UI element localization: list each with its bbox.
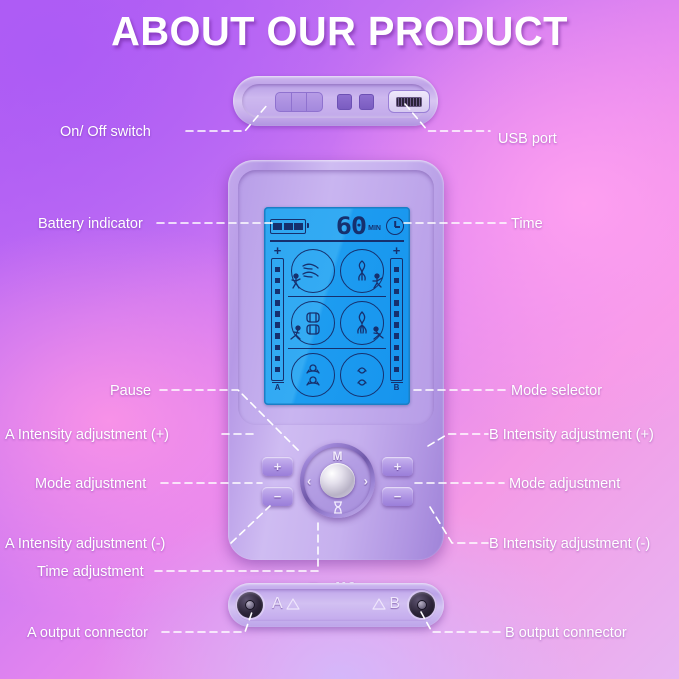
a-channel-letter: A bbox=[272, 595, 283, 613]
mode-acupuncture[interactable] bbox=[337, 245, 386, 297]
lcd-divider bbox=[270, 240, 404, 242]
dpad-right-arrow-icon[interactable]: › bbox=[364, 473, 368, 488]
intensity-bar-b: + B bbox=[388, 245, 405, 393]
device-top-strip bbox=[233, 76, 438, 126]
infographic-canvas: ABOUT OUR PRODUCT Belifu 60 MIN bbox=[0, 0, 679, 679]
a-intensity-plus-button[interactable]: + bbox=[262, 457, 293, 476]
time-unit: MIN bbox=[368, 224, 381, 234]
annotation-mode-adjustment-right: Mode adjustment bbox=[509, 476, 620, 492]
b-output-jack[interactable] bbox=[409, 592, 435, 618]
annotation-usb-port: USB port bbox=[498, 131, 557, 147]
dpad-center-button[interactable] bbox=[320, 463, 355, 498]
mode-grid bbox=[288, 245, 386, 401]
annotation-time: Time bbox=[511, 216, 543, 232]
dpad-left-arrow-icon[interactable]: ‹ bbox=[307, 473, 311, 488]
intensity-bar-a: + A bbox=[269, 245, 286, 393]
intensity-a-plus-sign: + bbox=[274, 245, 282, 256]
annotation-pause: Pause bbox=[110, 383, 151, 399]
time-display: 60 MIN bbox=[339, 216, 404, 236]
figure-icon bbox=[370, 273, 386, 295]
mode-scraping[interactable] bbox=[337, 297, 386, 349]
device-bottom-strip-inner bbox=[235, 589, 437, 621]
b-intensity-plus-button[interactable]: + bbox=[382, 457, 413, 476]
annotation-b-intensity-plus: B Intensity adjustment (+) bbox=[489, 427, 654, 443]
mini-button-1[interactable] bbox=[337, 94, 352, 110]
b-jack-pin bbox=[417, 600, 427, 610]
usb-port-slot bbox=[396, 97, 422, 107]
figure-icon bbox=[288, 325, 304, 347]
b-channel-letter: B bbox=[389, 595, 400, 613]
annotation-on-off-switch: On/ Off switch bbox=[60, 124, 151, 140]
a-jack-pin bbox=[245, 600, 255, 610]
battery-indicator bbox=[270, 219, 306, 234]
mode-cupping[interactable] bbox=[288, 297, 337, 349]
hourglass-icon[interactable] bbox=[331, 501, 344, 514]
b-intensity-minus-button[interactable]: − bbox=[382, 487, 413, 506]
annotation-battery-indicator: Battery indicator bbox=[38, 216, 143, 232]
intensity-b-plus-sign: + bbox=[393, 245, 401, 256]
kneading-icon bbox=[291, 353, 335, 397]
mode-massage[interactable] bbox=[288, 245, 337, 297]
a-channel-marking: A bbox=[272, 595, 300, 613]
lcd-status-row: 60 MIN bbox=[270, 213, 404, 239]
annotation-a-output-connector: A output connector bbox=[27, 625, 148, 641]
usb-port[interactable] bbox=[388, 90, 430, 113]
page-title: ABOUT OUR PRODUCT bbox=[10, 8, 669, 55]
intensity-a-column bbox=[271, 258, 284, 381]
mode-selector[interactable]: M ‹ › bbox=[300, 443, 375, 518]
warning-triangle-icon bbox=[286, 597, 300, 611]
annotation-time-adjustment: Time adjustment bbox=[37, 564, 144, 580]
annotation-a-intensity-plus: A Intensity adjustment (+) bbox=[5, 427, 169, 443]
annotation-b-output-connector: B output connector bbox=[505, 625, 627, 641]
b-channel-marking: B bbox=[372, 595, 400, 613]
annotation-mode-adjustment-left: Mode adjustment bbox=[35, 476, 146, 492]
annotation-mode-selector: Mode selector bbox=[511, 383, 602, 399]
figure-icon bbox=[370, 325, 386, 347]
dpad-mode-label[interactable]: M bbox=[333, 449, 343, 463]
mini-button-2[interactable] bbox=[359, 94, 374, 110]
figure-icon bbox=[288, 273, 304, 295]
annotation-a-intensity-minus: A Intensity adjustment (-) bbox=[5, 536, 165, 552]
lcd-screen: 60 MIN + A + B bbox=[264, 207, 410, 405]
a-intensity-minus-button[interactable]: − bbox=[262, 487, 293, 506]
intensity-b-column bbox=[390, 258, 403, 381]
annotation-b-intensity-minus: B Intensity adjustment (-) bbox=[489, 536, 650, 552]
warning-triangle-icon bbox=[372, 597, 386, 611]
mode-kneading[interactable] bbox=[288, 349, 337, 401]
clock-icon bbox=[386, 217, 404, 235]
tapping-icon bbox=[340, 353, 384, 397]
channel-a-label: A bbox=[272, 382, 284, 393]
time-value: 60 bbox=[336, 216, 366, 236]
mode-tapping[interactable] bbox=[337, 349, 386, 401]
channel-b-label: B bbox=[391, 382, 403, 393]
a-output-jack[interactable] bbox=[237, 592, 263, 618]
device-bottom-strip: A B bbox=[228, 583, 444, 627]
on-off-switch[interactable] bbox=[275, 92, 323, 112]
